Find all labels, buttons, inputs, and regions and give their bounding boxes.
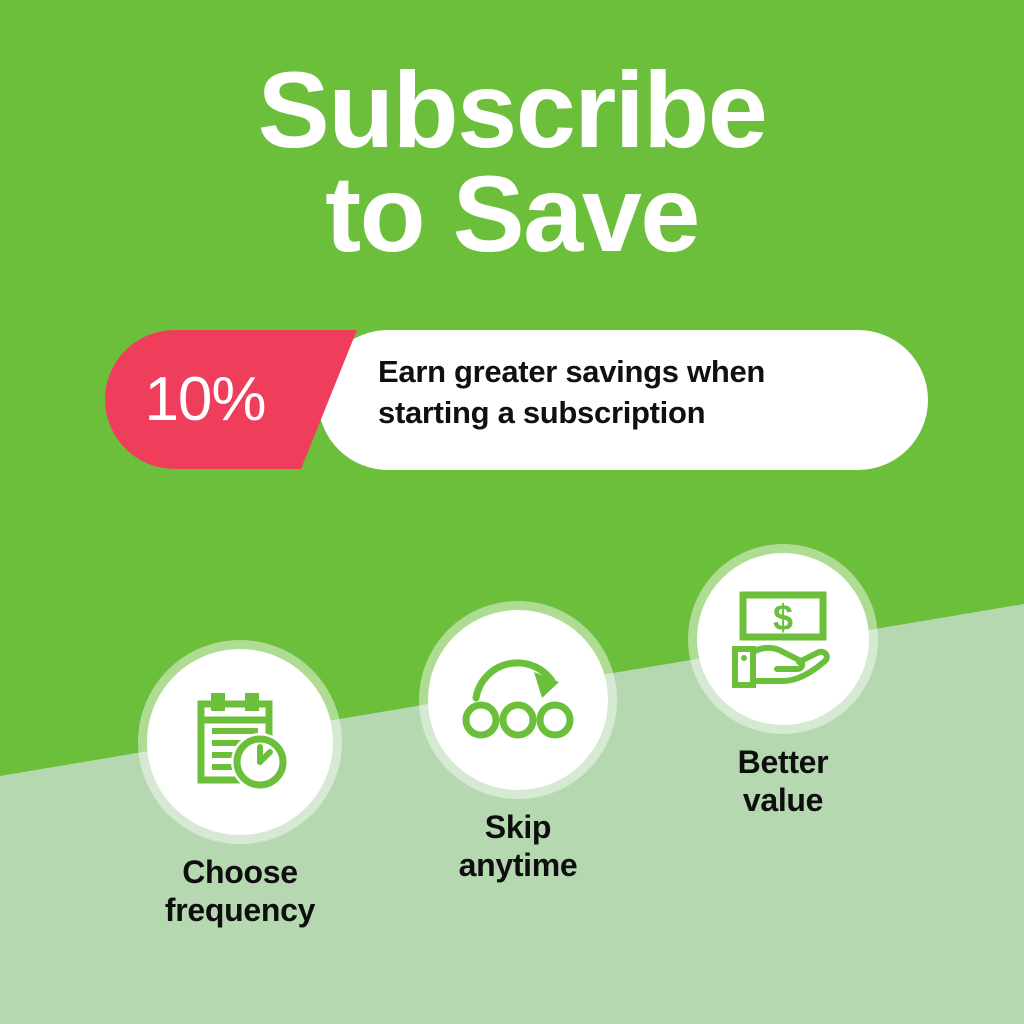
- svg-text:$: $: [773, 597, 793, 638]
- promo-message-line-2: starting a subscription: [378, 393, 898, 434]
- feature-label: Choose frequency: [147, 854, 333, 930]
- feature-choose-frequency: Choose frequency: [147, 649, 333, 930]
- promo-message-line-1: Earn greater savings when: [378, 352, 898, 393]
- skip-arrow-dots-icon: [462, 654, 574, 746]
- subscribe-to-save-poster: Subscribe to Save 10% Earn greater savin…: [0, 0, 1024, 1024]
- page-title-line-1: Subscribe: [0, 58, 1024, 162]
- page-title-line-2: to Save: [0, 162, 1024, 266]
- page-title: Subscribe to Save: [0, 58, 1024, 265]
- feature-label-line-1: Choose: [147, 854, 333, 892]
- feature-circle: [147, 649, 333, 835]
- promo-message: Earn greater savings when starting a sub…: [378, 352, 898, 434]
- feature-label: Better value: [697, 744, 869, 820]
- calendar-clock-icon: [184, 686, 296, 798]
- hand-holding-cash-icon: $: [727, 589, 839, 689]
- feature-label: Skip anytime: [428, 809, 608, 885]
- feature-label-line-1: Better: [697, 744, 869, 782]
- feature-skip-anytime: Skip anytime: [428, 610, 608, 885]
- feature-label-line-2: value: [697, 782, 869, 820]
- feature-better-value: $ Better value: [697, 553, 869, 820]
- promo-discount-value: 10%: [105, 330, 305, 469]
- feature-circle: $: [697, 553, 869, 725]
- feature-circle: [428, 610, 608, 790]
- feature-label-line-2: anytime: [428, 847, 608, 885]
- feature-label-line-2: frequency: [147, 892, 333, 930]
- feature-label-line-1: Skip: [428, 809, 608, 847]
